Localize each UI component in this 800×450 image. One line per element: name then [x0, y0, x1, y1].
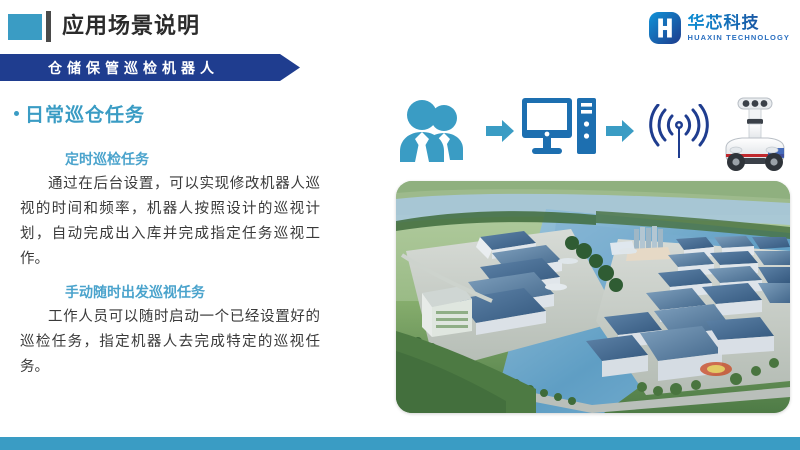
- inspection-robot-icon: [716, 92, 794, 177]
- arrow-right-icon-2: [606, 118, 634, 149]
- arrow-right-icon-1: [486, 118, 514, 149]
- computer-icon: [522, 98, 596, 169]
- paragraph-2: 工作人员可以随时启动一个已经设置好的巡检任务，指定机器人去完成特定的巡视任务。: [20, 305, 320, 380]
- huaxin-h-mark-icon: [648, 11, 682, 45]
- content-block-1: 定时巡检任务 通过在后台设置，可以实现修改机器人巡视的时间和频率，机器人按照设计…: [20, 148, 340, 272]
- section-banner: 仓储保管巡检机器人: [0, 54, 300, 81]
- section-heading-label: 日常巡仓任务: [25, 100, 145, 127]
- subheading-2: 手动随时出发巡视任务: [65, 281, 340, 303]
- company-logo: 华芯科技 HUAXIN TECHNOLOGY: [648, 8, 790, 48]
- people-icon: [400, 100, 474, 167]
- section-banner-label: 仓储保管巡检机器人: [0, 58, 219, 78]
- section-heading: 日常巡仓任务: [14, 100, 145, 127]
- paragraph-1: 通过在后台设置，可以实现修改机器人巡视的时间和频率，机器人按照设计的巡视计划，自…: [20, 172, 320, 272]
- footer-bar: [0, 437, 800, 450]
- header-accent-block: [8, 14, 42, 40]
- header-divider-bar: [46, 11, 51, 42]
- logo-name-en: HUAXIN TECHNOLOGY: [688, 34, 790, 42]
- logo-text: 华芯科技 HUAXIN TECHNOLOGY: [688, 14, 790, 42]
- page-title: 应用场景说明: [62, 11, 200, 41]
- slide: 应用场景说明 华芯科技 HUAXIN TECHNOLOGY 仓储保管巡检机器人: [0, 0, 800, 450]
- workflow-diagram: [398, 92, 796, 174]
- logo-name-cn: 华芯科技: [688, 14, 790, 31]
- wifi-signal-icon: [648, 104, 710, 165]
- content-block-2: 手动随时出发巡视任务 工作人员可以随时启动一个已经设置好的巡检任务，指定机器人去…: [20, 281, 340, 380]
- subheading-1: 定时巡检任务: [65, 148, 340, 170]
- body-content: 定时巡检任务 通过在后台设置，可以实现修改机器人巡视的时间和频率，机器人按照设计…: [20, 148, 340, 380]
- bullet-dot-icon: [14, 111, 19, 116]
- warehouse-park-aerial-photo: [396, 181, 790, 413]
